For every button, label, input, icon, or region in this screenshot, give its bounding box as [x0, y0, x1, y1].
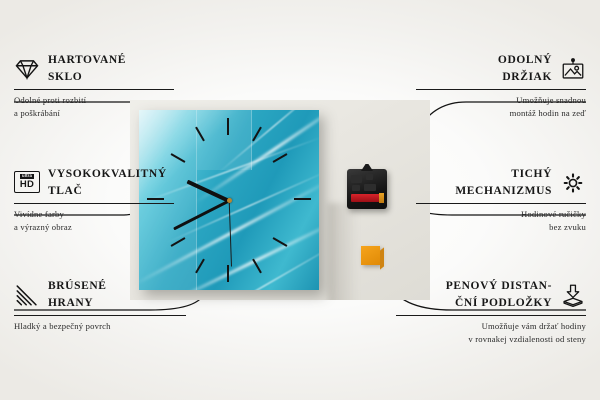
desc-line-1: Umožňuje snadnou [416, 94, 586, 107]
feature-heading: ODOLNÝ DRŽIAK [416, 52, 586, 85]
feature-title: HARTOVANÉ SKLO [48, 52, 126, 85]
feature-description: Umožňuje snadnou montáž hodin na zeď [416, 94, 586, 120]
ultra-hd-badge-icon: ultra HD [14, 171, 40, 195]
title-line-1: VYSOKOKVALITNÝ [48, 166, 167, 183]
feature-durable-hanger: ODOLNÝ DRŽIAK Umožňuje snadnou montáž ho… [416, 52, 586, 120]
feature-description: Hodinové ručičky bez zvuku [416, 208, 586, 234]
desc-line-1: Hodinové ručičky [416, 208, 586, 221]
title-line-2: TLAČ [48, 183, 167, 200]
desc-line-2: montáž hodin na zeď [416, 107, 586, 120]
feature-high-quality-print: ultra HD VYSOKOKVALITNÝ TLAČ Vivídne far… [14, 166, 174, 234]
ground-edges-icon [14, 283, 40, 307]
divider [14, 315, 186, 316]
feature-title: TICHÝ MECHANIZMUS [455, 166, 552, 199]
tick-3 [294, 198, 311, 200]
title-line-2: HRANY [48, 295, 107, 312]
feature-heading: ultra HD VYSOKOKVALITNÝ TLAČ [14, 166, 174, 199]
feature-heading: PENOVÝ DISTAN- ČNÍ PODLOŽKY [396, 278, 586, 311]
badge-hd-label: HD [20, 180, 34, 190]
divider [396, 315, 586, 316]
feature-hardened-glass: HARTOVANÉ SKLO Odolné proti rozbití a po… [14, 52, 174, 120]
title-line-2: ČNÍ PODLOŽKY [446, 295, 552, 312]
feature-title: VYSOKOKVALITNÝ TLAČ [48, 166, 167, 199]
desc-line-2: bez zvuku [416, 221, 586, 234]
divider [14, 203, 174, 204]
down-arrow-stack-icon [560, 283, 586, 307]
gear-icon [560, 171, 586, 195]
feature-description: Odolné proti rozbití a poškrábání [14, 94, 174, 120]
feature-description: Umožňuje vám držať hodiny v rovnakej vzd… [396, 320, 586, 346]
desc-line-2: a poškrábání [14, 107, 174, 120]
title-line-2: MECHANIZMUS [455, 183, 552, 200]
feature-foam-spacers: PENOVÝ DISTAN- ČNÍ PODLOŽKY Umožňuje vám… [396, 278, 586, 346]
feature-heading: TICHÝ MECHANIZMUS [416, 166, 586, 199]
title-line-1: ODOLNÝ [498, 52, 552, 69]
divider [14, 89, 174, 90]
infographic-canvas: HARTOVANÉ SKLO Odolné proti rozbití a po… [0, 0, 600, 400]
picture-hanger-icon [560, 57, 586, 81]
battery-terminal [379, 193, 384, 203]
wall-shadow [328, 203, 358, 300]
feature-description: Hladký a bezpečný povrch [14, 320, 186, 333]
desc-line-1: Vivídne farby [14, 208, 174, 221]
feature-ground-edges: BRÚSENÉ HRANY Hladký a bezpečný povrch [14, 278, 186, 333]
title-line-1: BRÚSENÉ [48, 278, 107, 295]
foam-spacer-pad [361, 246, 380, 265]
desc-line-1: Umožňuje vám držať hodiny [396, 320, 586, 333]
desc-line-2: a výrazný obraz [14, 221, 174, 234]
feature-description: Vivídne farby a výrazný obraz [14, 208, 174, 234]
feature-title: PENOVÝ DISTAN- ČNÍ PODLOŽKY [446, 278, 552, 311]
title-line-1: TICHÝ [455, 166, 552, 183]
print-panel-mid [197, 110, 252, 170]
mechanism-part-2 [366, 174, 373, 180]
tick-6 [227, 265, 229, 282]
mechanism-part-3 [352, 185, 360, 191]
title-line-1: HARTOVANÉ [48, 52, 126, 69]
title-line-2: SKLO [48, 69, 126, 86]
desc-line-1: Odolné proti rozbití [14, 94, 174, 107]
foam-pad-side [380, 247, 384, 269]
mechanism-part-4 [364, 184, 376, 191]
title-line-1: PENOVÝ DISTAN- [446, 278, 552, 295]
feature-title: BRÚSENÉ HRANY [48, 278, 107, 311]
mechanism-part-1 [351, 175, 362, 183]
clock-mechanism [347, 169, 387, 209]
diamond-icon [14, 57, 40, 81]
tick-12 [227, 118, 229, 135]
divider [416, 203, 586, 204]
desc-line-2: v rovnakej vzdialenosti od steny [396, 333, 586, 346]
feature-heading: BRÚSENÉ HRANY [14, 278, 186, 311]
title-line-2: DRŽIAK [498, 69, 552, 86]
center-pin [227, 198, 232, 203]
divider [416, 89, 586, 90]
feature-title: ODOLNÝ DRŽIAK [498, 52, 552, 85]
desc-line-1: Hladký a bezpečný povrch [14, 320, 186, 333]
feature-heading: HARTOVANÉ SKLO [14, 52, 174, 85]
feature-silent-mechanism: TICHÝ MECHANIZMUS Hodinové ručičky bez z… [416, 166, 586, 234]
